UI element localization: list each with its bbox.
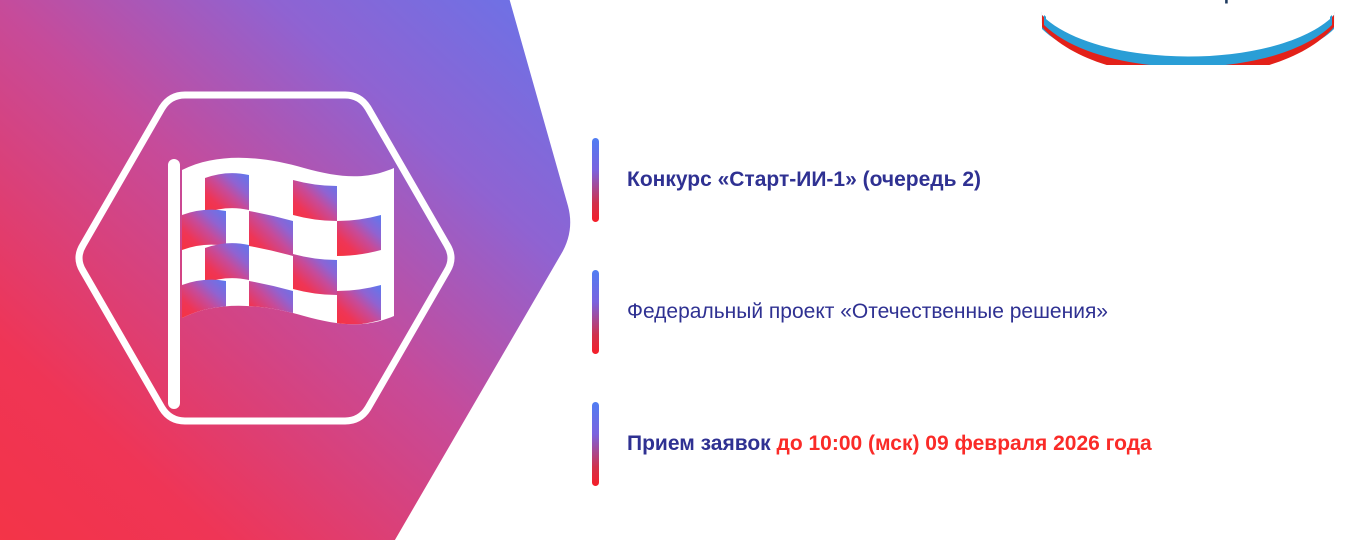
- competition-title: Конкурс «Старт-ИИ-1» (очередь 2): [599, 166, 1352, 194]
- accent-bar-gradient: [592, 138, 599, 222]
- application-deadline: Прием заявок до 10:00 (мск) 09 февраля 2…: [599, 430, 1352, 458]
- accent-bar-gradient: [592, 270, 599, 354]
- accent-bar-gradient: [592, 402, 599, 486]
- logo: ИННОВАЦИЯМ: [1038, 0, 1338, 70]
- left-graphic: [0, 0, 600, 540]
- federal-project-name: Федеральный проект «Отечественные решени…: [599, 298, 1352, 326]
- logo-wordmark: ИННОВАЦИЯМ: [1038, 0, 1338, 6]
- tricolor-swoosh-icon: [1038, 7, 1338, 65]
- list-item: Конкурс «Старт-ИИ-1» (очередь 2): [592, 138, 1352, 222]
- list-item: Федеральный проект «Отечественные решени…: [592, 270, 1352, 354]
- list-item: Прием заявок до 10:00 (мск) 09 февраля 2…: [592, 402, 1352, 486]
- info-list: Конкурс «Старт-ИИ-1» (очередь 2) Федерал…: [592, 138, 1352, 486]
- deadline-label: Прием заявок: [627, 432, 771, 455]
- deadline-value: до 10:00 (мск) 09 февраля 2026 года: [771, 432, 1152, 455]
- slide-canvas: ИННОВАЦИЯМ Конкурс «Старт-ИИ-1» (очередь…: [0, 0, 1360, 540]
